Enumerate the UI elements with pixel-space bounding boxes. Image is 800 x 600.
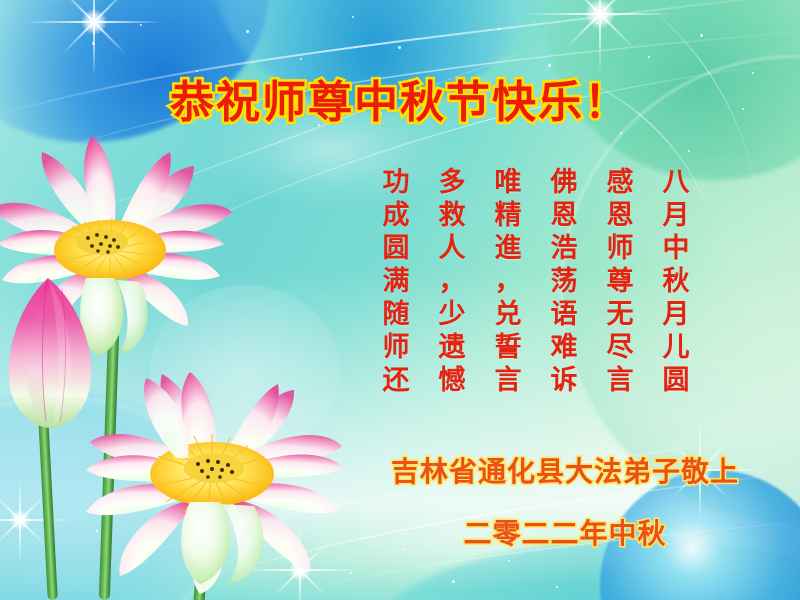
poem-char: 难: [551, 331, 578, 364]
poem-char: 诉: [551, 364, 578, 397]
poem-column-3: 佛 恩 浩 荡 语 难 诉: [536, 166, 592, 398]
poem-char: 师: [383, 331, 410, 364]
poem-char: 还: [383, 364, 410, 397]
poem-char: 满: [383, 265, 410, 298]
poem-char: 月: [663, 298, 690, 331]
poem-char: 儿: [663, 331, 690, 364]
poem-char: ，: [495, 265, 522, 298]
lotus-stem-lower: [193, 470, 213, 600]
poem-char: 师: [607, 232, 634, 265]
poem-column-1: 八 月 中 秋 月 儿 圆: [648, 166, 704, 398]
poem-char: 秋: [663, 265, 690, 298]
signature-block: 吉林省通化县大法弟子敬上 二零二二年中秋: [330, 450, 800, 552]
poem-char: 尊: [607, 265, 634, 298]
poem-column-4: 唯 精 進 ， 兑 誓 言: [480, 166, 536, 398]
poem-char: 人: [439, 232, 466, 265]
signature-date: 二零二二年中秋: [330, 512, 800, 552]
poem-char: 進: [495, 232, 522, 265]
poem-char: 中: [663, 232, 690, 265]
poem-char: 救: [439, 199, 466, 232]
poem-char: 月: [663, 199, 690, 232]
soft-bubble-middle: [150, 285, 340, 455]
poem-char: 兑: [495, 298, 522, 331]
card-title: 恭祝师尊中秋节快乐！: [0, 66, 800, 130]
poem-block: 八 月 中 秋 月 儿 圆 感 恩 师 尊 无 尽 言 佛 恩 浩 荡 语 难 …: [368, 166, 704, 398]
poem-char: 誓: [495, 331, 522, 364]
poem-char: 随: [383, 298, 410, 331]
poem-column-5: 多 救 人 ， 少 遗 憾: [424, 166, 480, 398]
poem-char: 精: [495, 199, 522, 232]
poem-char: 语: [551, 298, 578, 331]
poem-char: 圆: [663, 364, 690, 397]
poem-char: 言: [607, 364, 634, 397]
lotus-petal-stray: [130, 372, 220, 462]
poem-char: 浩: [551, 232, 578, 265]
poem-char: 八: [663, 166, 690, 199]
poem-char: 遗: [439, 331, 466, 364]
poem-char: 圆: [383, 232, 410, 265]
poem-column-6: 功 成 圆 满 随 师 还: [368, 166, 424, 398]
lotus-bloom-upper-left: [0, 130, 240, 380]
poem-char: 佛: [551, 166, 578, 199]
lotus-bud-left: [0, 272, 104, 432]
light-blue-bubble-left: [0, 390, 230, 600]
poem-char: 唯: [495, 166, 522, 199]
signature-sender: 吉林省通化县大法弟子敬上: [330, 450, 800, 490]
greeting-card: 恭祝师尊中秋节快乐！ 八 月 中 秋 月 儿 圆 感 恩 师 尊 无 尽 言 佛…: [0, 0, 800, 600]
lotus-stem-upper: [99, 300, 120, 600]
lotus-stem-bud: [36, 380, 58, 600]
lotus-bloom-lower-left: [62, 372, 362, 600]
poem-char: 功: [383, 166, 410, 199]
poem-char: 成: [383, 199, 410, 232]
poem-char: ，: [439, 265, 466, 298]
poem-char: 荡: [551, 265, 578, 298]
poem-char: 言: [495, 364, 522, 397]
poem-char: 尽: [607, 331, 634, 364]
poem-char: 无: [607, 298, 634, 331]
poem-char: 憾: [439, 364, 466, 397]
poem-char: 多: [439, 166, 466, 199]
poem-column-2: 感 恩 师 尊 无 尽 言: [592, 166, 648, 398]
poem-char: 恩: [607, 199, 634, 232]
poem-char: 感: [607, 166, 634, 199]
poem-char: 恩: [551, 199, 578, 232]
poem-char: 少: [439, 298, 466, 331]
